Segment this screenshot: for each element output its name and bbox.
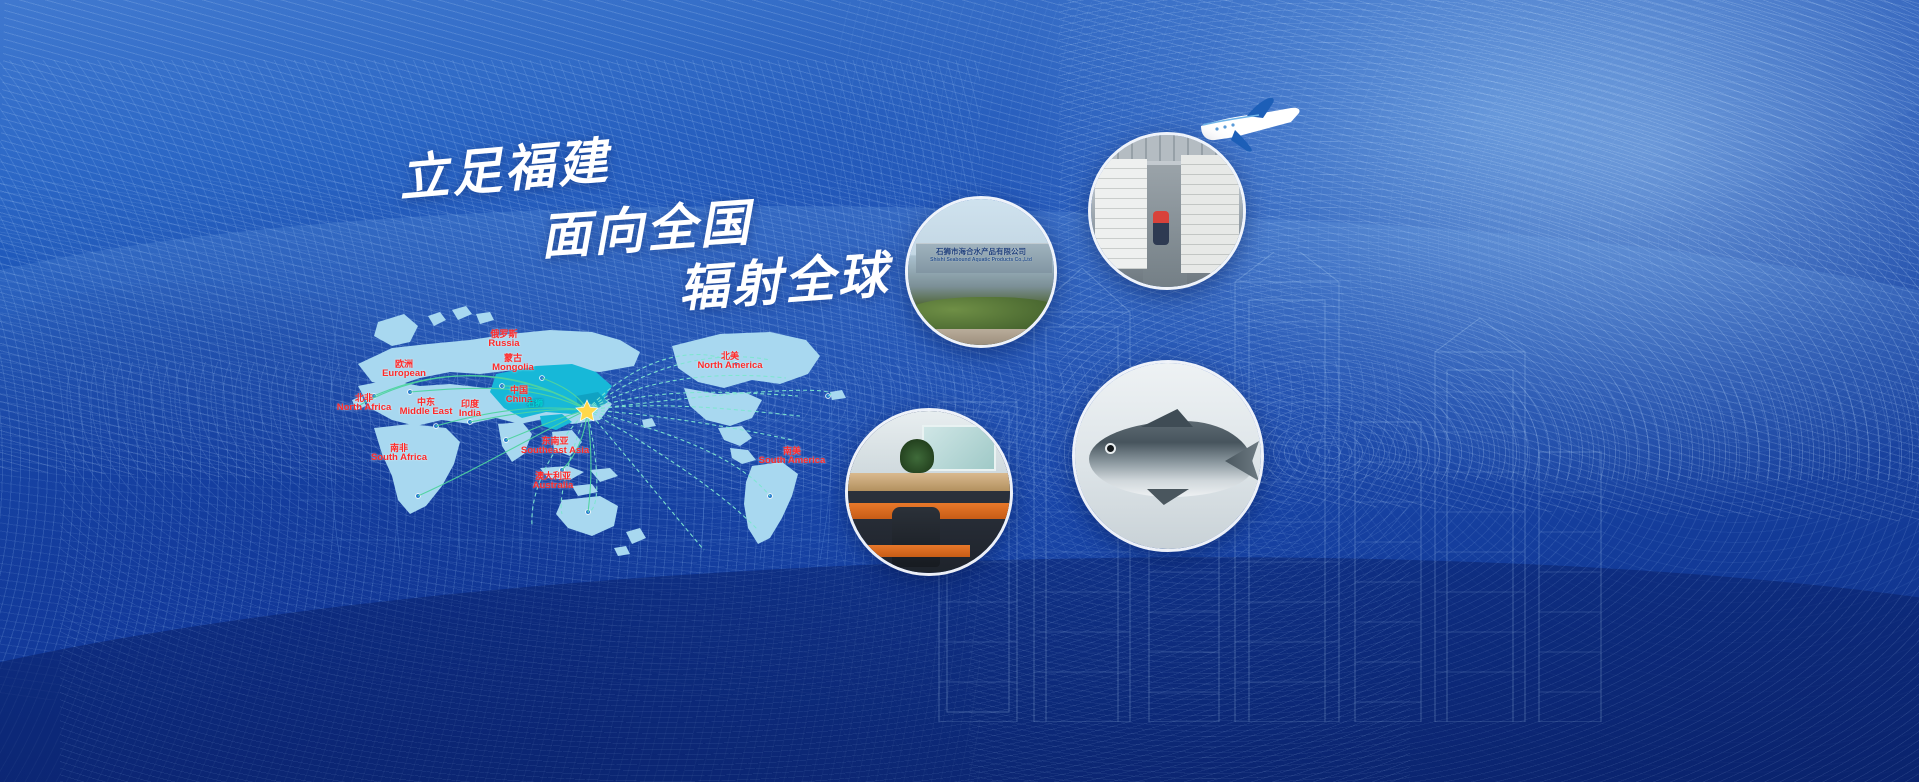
map-label-south-africa-en: South Africa	[371, 453, 427, 463]
company-entrance-photo[interactable]: 石狮市海合水产品有限公司 Shishi Seabound Aquatic Pro…	[905, 196, 1057, 348]
warehouse-boxes-left	[1095, 159, 1147, 269]
office-desk	[848, 473, 1010, 491]
company-signboard-text: 石狮市海合水产品有限公司 Shishi Seabound Aquatic Pro…	[908, 247, 1054, 263]
map-label-european: 欧洲 European	[382, 360, 426, 379]
map-label-south-america: 南美 South America	[759, 447, 826, 466]
company-sign-cn: 石狮市海合水产品有限公司	[936, 247, 1026, 256]
map-label-russia: 俄罗斯 Russia	[488, 330, 519, 349]
map-label-southeast-asia-en: Southeast Asia	[521, 446, 589, 456]
map-label-india: 印度 India	[459, 400, 481, 419]
map-label-south-africa: 南非 South Africa	[371, 444, 427, 463]
map-label-middle-east-en: Middle East	[400, 407, 453, 417]
tuna-fish-photo[interactable]	[1072, 360, 1264, 552]
glow-top-right	[1199, 0, 1919, 500]
warehouse-worker	[1153, 211, 1169, 245]
office-chair	[892, 507, 940, 567]
map-label-hub-shishi: 石狮	[527, 400, 543, 408]
company-sign-en: Shishi Seabound Aquatic Products Co.,Ltd	[908, 257, 1054, 264]
map-label-mongolia-en: Mongolia	[492, 363, 534, 373]
map-label-north-america-en: North America	[697, 361, 762, 371]
tuna-ventral-fin	[1147, 489, 1189, 505]
map-label-middle-east: 中东 Middle East	[400, 398, 453, 417]
entrance-path	[905, 329, 1057, 345]
hero-banner: 立足福建 面向全国 辐射全球	[0, 0, 1919, 782]
map-label-india-en: India	[459, 409, 481, 419]
office-plant	[900, 439, 934, 473]
warehouse-boxes-right	[1181, 155, 1239, 273]
map-label-north-africa: 北非 North Africa	[337, 394, 392, 413]
office-interior-photo[interactable]	[845, 408, 1013, 576]
office-counter-lower	[845, 545, 970, 557]
map-label-north-america: 北美 North America	[697, 352, 762, 371]
map-label-russia-en: Russia	[488, 339, 519, 349]
tuna-eye	[1105, 443, 1116, 454]
tuna-dorsal-fin	[1141, 409, 1193, 427]
cold-storage-warehouse-photo[interactable]	[1088, 132, 1246, 290]
map-label-australia-en: Australia	[533, 481, 574, 491]
map-label-australia: 澳大利亚 Australia	[533, 472, 574, 491]
map-label-southeast-asia: 东南亚 Southeast Asia	[521, 437, 589, 456]
map-label-european-en: European	[382, 369, 426, 379]
map-label-north-africa-en: North Africa	[337, 403, 392, 413]
world-map-graphic	[300, 300, 860, 560]
map-label-mongolia: 蒙古 Mongolia	[492, 354, 534, 373]
map-label-south-america-en: South America	[759, 456, 826, 466]
